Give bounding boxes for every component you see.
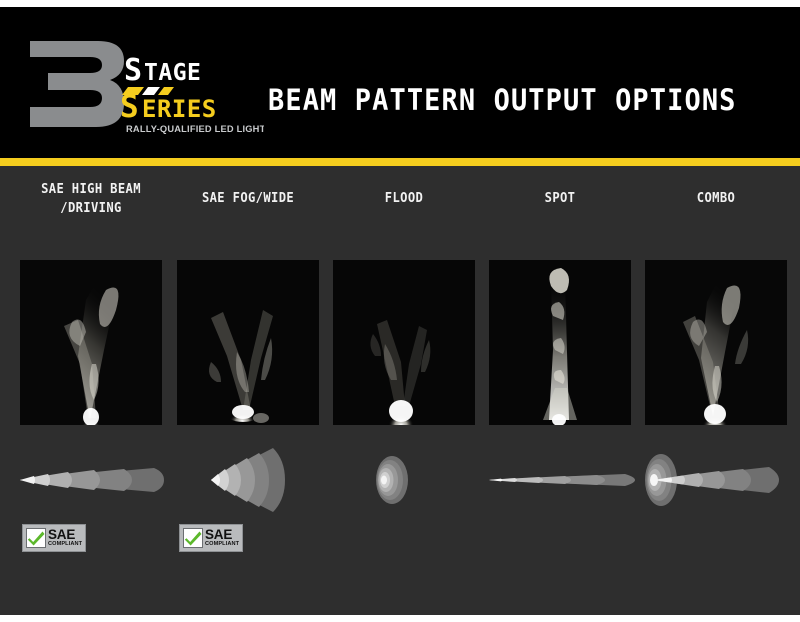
yellow-divider — [0, 158, 800, 166]
beam-diagram-spot — [483, 444, 637, 516]
column-sae-high-beam-driving[interactable]: SAE HIGH BEAM /DRIVING — [20, 166, 162, 615]
beam-photo-spot[interactable] — [489, 260, 631, 425]
svg-text:RALLY-QUALIFIED LED LIGHTING: RALLY-QUALIFIED LED LIGHTING — [126, 124, 264, 134]
column-header-line1: FLOOD — [337, 189, 472, 208]
column-header-line1: SAE FOG/WIDE — [181, 189, 316, 208]
sae-compliant-badge-wrap-fog-wide: SAE COMPLIANT — [177, 524, 319, 558]
beam-diagram-flood — [327, 444, 481, 516]
column-header-flood: FLOOD — [337, 189, 472, 208]
logo-numeral-3 — [30, 41, 124, 127]
column-flood[interactable]: FLOOD — [333, 166, 475, 615]
svg-text:S: S — [124, 53, 142, 88]
badge-subtitle: COMPLIANT — [48, 542, 82, 548]
badge-subtitle: COMPLIANT — [205, 542, 239, 548]
beam-pattern-output-options-page: S TAGE S ERIES RALLY-QUALIFIED LED LIGHT… — [0, 0, 800, 622]
sae-compliant-badge-wrap-driving: SAE COMPLIANT — [20, 524, 162, 558]
column-header-line1: SAE HIGH BEAM — [24, 180, 159, 199]
page-title: BEAM PATTERN OUTPUT OPTIONS — [268, 83, 737, 117]
column-spot[interactable]: SPOT — [489, 166, 631, 615]
column-header-line1: SPOT — [493, 189, 628, 208]
badge-text: SAE COMPLIANT — [48, 528, 82, 548]
beam-diagram-combo — [639, 444, 793, 516]
beam-diagram-fog-wide — [171, 444, 325, 516]
stage-series-logo: S TAGE S ERIES RALLY-QUALIFIED LED LIGHT… — [24, 35, 264, 140]
svg-text:S: S — [120, 89, 138, 125]
beam-photo-combo[interactable] — [645, 260, 787, 425]
badge-text: SAE COMPLIANT — [205, 528, 239, 548]
beam-photo-flood[interactable] — [333, 260, 475, 425]
column-header-spot: SPOT — [493, 189, 628, 208]
column-header-combo: COMBO — [649, 189, 784, 208]
column-header-sae-fog-wide: SAE FOG/WIDE — [181, 189, 316, 208]
header-bar: S TAGE S ERIES RALLY-QUALIFIED LED LIGHT… — [0, 7, 800, 158]
svg-text:TAGE: TAGE — [144, 60, 201, 86]
beam-photo-sae-high-beam-driving[interactable] — [20, 260, 162, 425]
svg-text:ERIES: ERIES — [142, 95, 217, 123]
badge-title: SAE — [205, 528, 239, 542]
column-combo[interactable]: COMBO — [645, 166, 787, 615]
badge-title: SAE — [48, 528, 82, 542]
beam-diagram-driving — [14, 444, 168, 516]
column-header-line1: COMBO — [649, 189, 784, 208]
beam-photo-sae-fog-wide[interactable] — [177, 260, 319, 425]
sae-compliant-badge: SAE COMPLIANT — [179, 524, 243, 552]
column-sae-fog-wide[interactable]: SAE FOG/WIDE — [177, 166, 319, 615]
column-header-line2: /DRIVING — [24, 199, 159, 218]
checkmark-icon — [183, 528, 203, 548]
checkmark-icon — [26, 528, 46, 548]
column-header-sae-high-beam-driving: SAE HIGH BEAM /DRIVING — [24, 180, 159, 218]
sae-compliant-badge: SAE COMPLIANT — [22, 524, 86, 552]
beam-comparison-grid: SAE HIGH BEAM /DRIVING — [0, 166, 800, 615]
